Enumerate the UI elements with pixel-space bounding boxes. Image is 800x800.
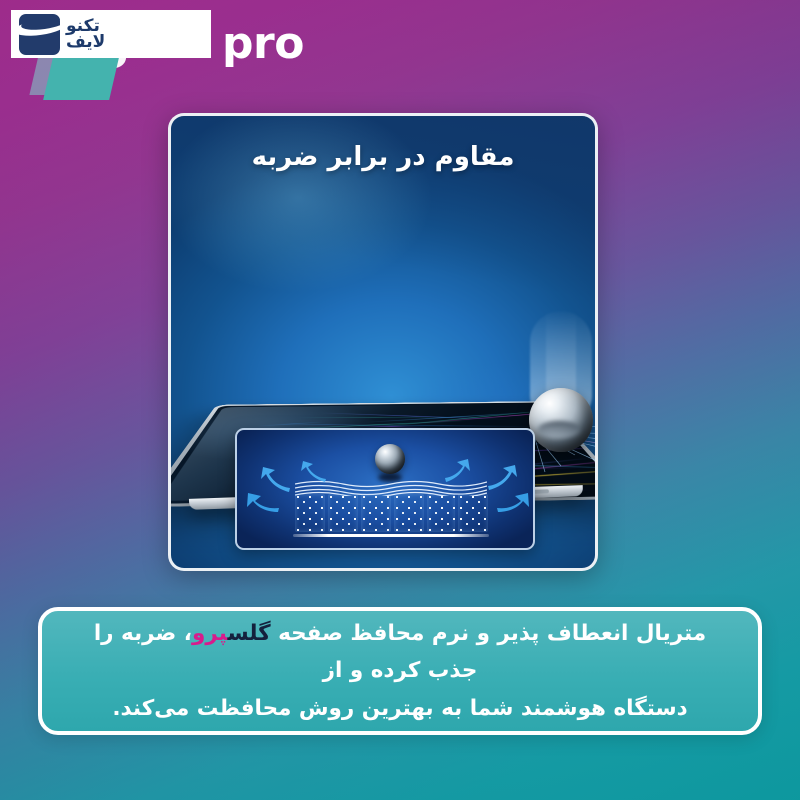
caption-box: متریال انعطاف پذیر و نرم محافظ صفحه گلسپ…: [38, 607, 762, 735]
particle-column: [394, 494, 424, 532]
arrow-up-right-outer-icon: [485, 464, 519, 492]
brand-logo-text: تکنو لایف: [66, 18, 105, 50]
particle-column: [361, 494, 391, 532]
caption-brand-pro: پرو: [192, 621, 228, 646]
particle-column: [458, 494, 488, 532]
techno-life-mark-icon: [19, 14, 60, 55]
particle-column: [328, 494, 358, 532]
hero-headline: مقاوم در برابر ضربه: [171, 142, 595, 172]
brand-logo-line2: لایف: [66, 34, 105, 50]
diagram-steel-ball: [375, 444, 405, 474]
arrow-up-right-inner-icon: [442, 458, 472, 484]
steel-ball: [529, 388, 593, 452]
decor-shape-teal-solid: [43, 58, 119, 100]
shock-absorbing-layer-diagram: [235, 428, 535, 550]
promo-banner: گلس pro تکنو لایف مقاوم در برابر ضربه: [0, 0, 800, 800]
brand-logo[interactable]: تکنو لایف: [11, 10, 211, 58]
arrow-up-left-inner-icon: [299, 460, 329, 484]
arrow-left-lower-icon: [245, 490, 281, 520]
arrow-right-lower-icon: [495, 490, 531, 520]
caption-line2: دستگاه هوشمند شما به بهترین روش محافظت م…: [112, 696, 687, 721]
screen-light-streak: [279, 424, 376, 425]
hero-image-card: مقاوم در برابر ضربه: [168, 113, 598, 571]
caption-line1-part1: متریال انعطاف پذیر و نرم محافظ صفحه: [271, 621, 707, 646]
caption-brand-glass: گلس: [227, 621, 270, 646]
diagram-base-line: [293, 534, 489, 537]
brand-header: گلس pro تکنو لایف: [0, 0, 800, 110]
product-word-pro: pro: [222, 22, 304, 66]
caption-text: متریال انعطاف پذیر و نرم محافظ صفحه گلسپ…: [68, 615, 732, 728]
particle-column: [295, 494, 325, 532]
particle-column: [427, 494, 455, 532]
